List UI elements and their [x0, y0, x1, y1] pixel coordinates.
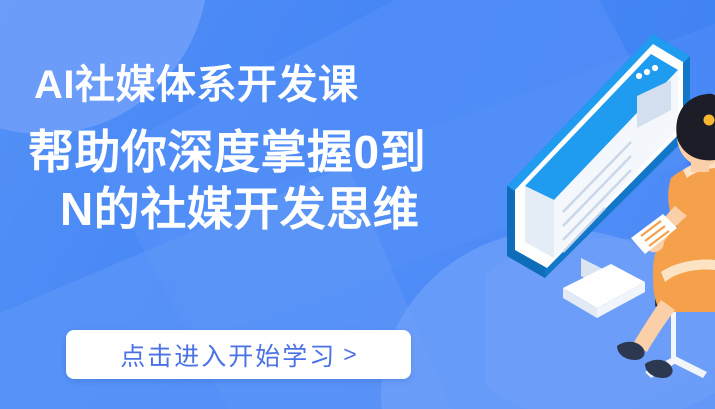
window-dot — [644, 69, 650, 75]
headline-line-3: N的社媒开发思维 — [60, 185, 524, 234]
window-dot — [652, 65, 658, 71]
course-promo-banner: AI社媒体系开发课 帮助你深度掌握0到 N的社媒开发思维 点击进入开始学习 > — [0, 0, 715, 409]
headline-block: AI社媒体系开发课 帮助你深度掌握0到 N的社媒开发思维 — [34, 64, 524, 234]
chevron-right-icon: > — [343, 341, 356, 368]
headline-line-1: AI社媒体系开发课 — [34, 64, 524, 106]
start-learning-button[interactable]: 点击进入开始学习 > — [66, 330, 411, 379]
window-dot — [636, 73, 642, 79]
cta-button-label: 点击进入开始学习 — [120, 337, 336, 373]
hair-tie — [704, 115, 715, 126]
headline-line-2: 帮助你深度掌握0到 — [28, 128, 524, 177]
